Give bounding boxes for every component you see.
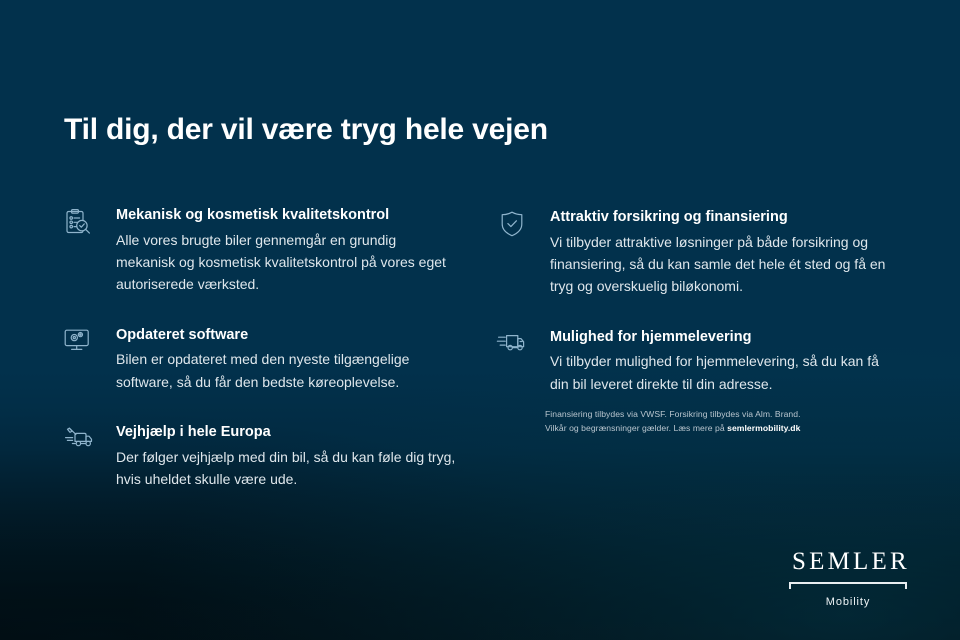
disclaimer-line-2: Vilkår og begrænsninger gælder. Læs mere… <box>545 422 845 436</box>
delivery-truck-icon <box>492 330 532 364</box>
disclaimer-website-link[interactable]: semlermobility.dk <box>727 423 800 433</box>
feature-heading: Vejhjælp i hele Europa <box>116 423 458 443</box>
feature-item-home-delivery: Mulighed for hjemmelevering Vi tilbyder … <box>492 328 892 395</box>
feature-column-right: Attraktiv forsikring og finansiering Vi … <box>492 208 892 421</box>
feature-item-quality-control: Mekanisk og kosmetisk kvalitetskontrol A… <box>58 206 458 296</box>
disclaimer: Finansiering tilbydes via VWSF. Forsikri… <box>545 408 845 436</box>
feature-heading: Attraktiv forsikring og finansiering <box>550 208 892 228</box>
tow-truck-icon <box>58 425 98 459</box>
feature-item-updated-software: Opdateret software Bilen er opdateret me… <box>58 326 458 393</box>
feature-body: Vi tilbyder mulighed for hjemmelevering,… <box>550 350 892 395</box>
clipboard-magnifier-icon <box>58 208 98 242</box>
feature-heading: Opdateret software <box>116 326 458 346</box>
page-title: Til dig, der vil være tryg hele vejen <box>64 113 548 147</box>
feature-body: Der følger vejhjælp med din bil, så du k… <box>116 446 458 491</box>
feature-body: Bilen er opdateret med den nyeste tilgæn… <box>116 348 458 393</box>
slide-content: Til dig, der vil være tryg hele vejen <box>0 0 960 640</box>
logo-rule-bar <box>789 582 907 584</box>
logo-rule-tick-right <box>905 582 907 589</box>
disclaimer-line-1: Finansiering tilbydes via VWSF. Forsikri… <box>545 408 845 422</box>
logo-bracket-rule <box>789 582 907 590</box>
feature-body: Vi tilbyder attraktive løsninger på både… <box>550 231 892 298</box>
feature-heading: Mekanisk og kosmetisk kvalitetskontrol <box>116 206 458 226</box>
disclaimer-line-2-text: Vilkår og begrænsninger gælder. Læs mere… <box>545 423 727 433</box>
semler-mobility-logo: SEMLER Mobility <box>789 549 907 608</box>
feature-column-left: Mekanisk og kosmetisk kvalitetskontrol A… <box>58 206 458 516</box>
monitor-gears-icon <box>58 328 98 362</box>
logo-subtitle: Mobility <box>789 596 907 608</box>
logo-wordmark: SEMLER <box>789 549 907 574</box>
feature-heading: Mulighed for hjemmelevering <box>550 328 892 348</box>
shield-check-icon <box>492 210 532 244</box>
feature-body: Alle vores brugte biler gennemgår en gru… <box>116 229 458 296</box>
feature-item-insurance-financing: Attraktiv forsikring og finansiering Vi … <box>492 208 892 298</box>
logo-rule-tick-left <box>789 582 791 589</box>
feature-item-roadside-assistance: Vejhjælp i hele Europa Der følger vejhjæ… <box>58 423 458 490</box>
